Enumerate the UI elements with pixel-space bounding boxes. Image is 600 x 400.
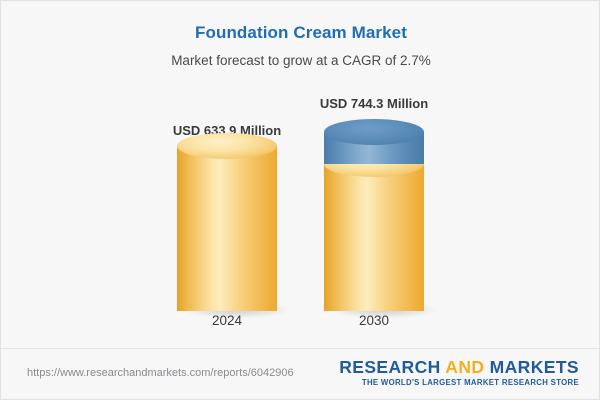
chart-plot-area: USD 633.9 Million 2024 USD 744.3 Million — [1, 1, 600, 349]
bar-value-label: USD 744.3 Million — [320, 96, 428, 111]
footer: https://www.researchandmarkets.com/repor… — [1, 348, 600, 399]
x-axis-label-2024: 2024 — [212, 313, 242, 328]
segment-top-ellipse — [324, 119, 424, 145]
infographic-card: Foundation Cream Market Market forecast … — [0, 0, 600, 400]
bar-segment-base — [324, 164, 424, 311]
cylinder-2024[interactable] — [177, 146, 277, 311]
logo-word-markets: MARKETS — [490, 357, 579, 377]
logo-tagline: THE WORLD'S LARGEST MARKET RESEARCH STOR… — [339, 378, 579, 387]
segment-body — [324, 164, 424, 311]
cylinder-2030[interactable] — [324, 132, 424, 311]
segment-top-ellipse — [177, 133, 277, 159]
report-url[interactable]: https://www.researchandmarkets.com/repor… — [27, 367, 294, 379]
bar-group-2030: USD 744.3 Million 2030 — [324, 1, 424, 349]
brand-logo[interactable]: RESEARCH AND MARKETS THE WORLD'S LARGEST… — [339, 358, 579, 387]
x-axis-label-2030: 2030 — [359, 313, 389, 328]
bar-group-2024: USD 633.9 Million 2024 — [177, 1, 277, 349]
bar-segment-growth — [324, 132, 424, 164]
segment-body — [177, 146, 277, 311]
logo-word-and: AND — [445, 357, 489, 377]
bar-segment-base — [177, 146, 277, 311]
logo-word-research: RESEARCH — [339, 357, 445, 377]
logo-wordmark: RESEARCH AND MARKETS — [339, 358, 579, 376]
